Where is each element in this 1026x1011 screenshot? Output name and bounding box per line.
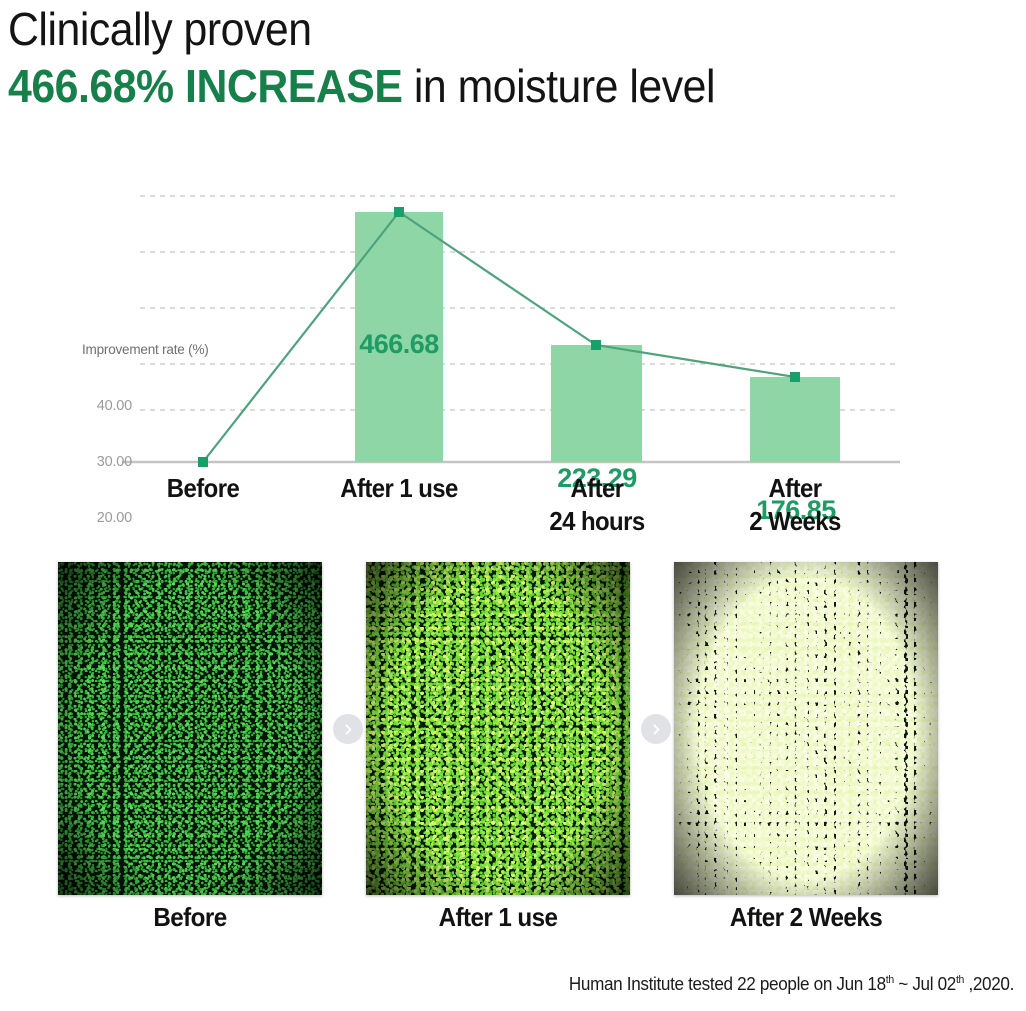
photo-caption-after-2-weeks: After 2 Weeks	[683, 902, 929, 933]
x-label-after-2-weeks-line-1: After	[712, 472, 878, 505]
footnote-part-1: Human Institute tested 22 people on Jun …	[569, 974, 886, 994]
x-label-before-line-1: Before	[129, 472, 276, 505]
chevron-right-icon-2	[641, 714, 671, 744]
headline-highlight: 466.68% INCREASE	[8, 60, 402, 112]
y-tick-40: 40.00	[70, 398, 132, 414]
trend-line	[203, 212, 795, 462]
x-label-before: Before	[129, 472, 276, 505]
photo-before	[58, 562, 322, 895]
x-label-after-2-weeks: After 2 Weeks	[712, 472, 878, 538]
footnote-sup-1: th	[886, 974, 894, 986]
marker-after-24-hours	[591, 340, 601, 350]
x-label-after-2-weeks-line-2: 2 Weeks	[712, 505, 878, 538]
photo-after-1-use	[366, 562, 630, 895]
marker-after-2-weeks	[790, 372, 800, 382]
y-tick-20: 20.00	[70, 510, 132, 526]
x-label-after-24-hours-line-2: 24 hours	[514, 505, 680, 538]
headline-line-1: Clinically proven	[8, 2, 955, 56]
footnote-part-2: ~ Jul 02	[894, 974, 956, 994]
x-label-after-1-use-line-1: After 1 use	[316, 472, 482, 505]
photo-before-image	[58, 562, 322, 895]
y-axis-title: Improvement rate (%)	[82, 342, 209, 357]
trend-markers	[198, 207, 800, 467]
x-label-after-24-hours-line-1: After	[514, 472, 680, 505]
chevron-right-glyph-1	[342, 723, 355, 736]
marker-after-1-use	[394, 207, 404, 217]
y-tick-30: 30.00	[70, 454, 132, 470]
bar-after-2-weeks	[750, 377, 840, 462]
bar-after-24-hours	[551, 345, 642, 462]
photo-after-1-use-image	[366, 562, 630, 895]
data-label-after-1-use: 466.68	[339, 329, 459, 360]
marker-before	[198, 457, 208, 467]
headline-rest: in moisture level	[402, 60, 715, 112]
photo-comparison-strip: Before After 1 use After 2 Weeks	[0, 562, 1026, 952]
headline-line-2: 466.68% INCREASE in moisture level	[8, 58, 955, 114]
photo-after-2-weeks-image	[674, 562, 938, 895]
headline-block: Clinically proven 466.68% INCREASE in mo…	[8, 2, 1026, 114]
photo-caption-before: Before	[67, 902, 313, 933]
chevron-right-glyph-2	[650, 723, 663, 736]
study-footnote: Human Institute tested 22 people on Jun …	[51, 974, 1014, 995]
photo-caption-after-1-use: After 1 use	[375, 902, 621, 933]
footnote-part-3: ,2020.	[964, 974, 1014, 994]
improvement-rate-chart: Improvement rate (%) 40.00 30.00 20.00 1…	[0, 160, 1026, 560]
x-label-after-24-hours: After 24 hours	[514, 472, 680, 538]
photo-after-2-weeks	[674, 562, 938, 895]
chevron-right-icon-1	[333, 714, 363, 744]
x-label-after-1-use: After 1 use	[316, 472, 482, 505]
infographic-page: Clinically proven 466.68% INCREASE in mo…	[0, 0, 1026, 1011]
